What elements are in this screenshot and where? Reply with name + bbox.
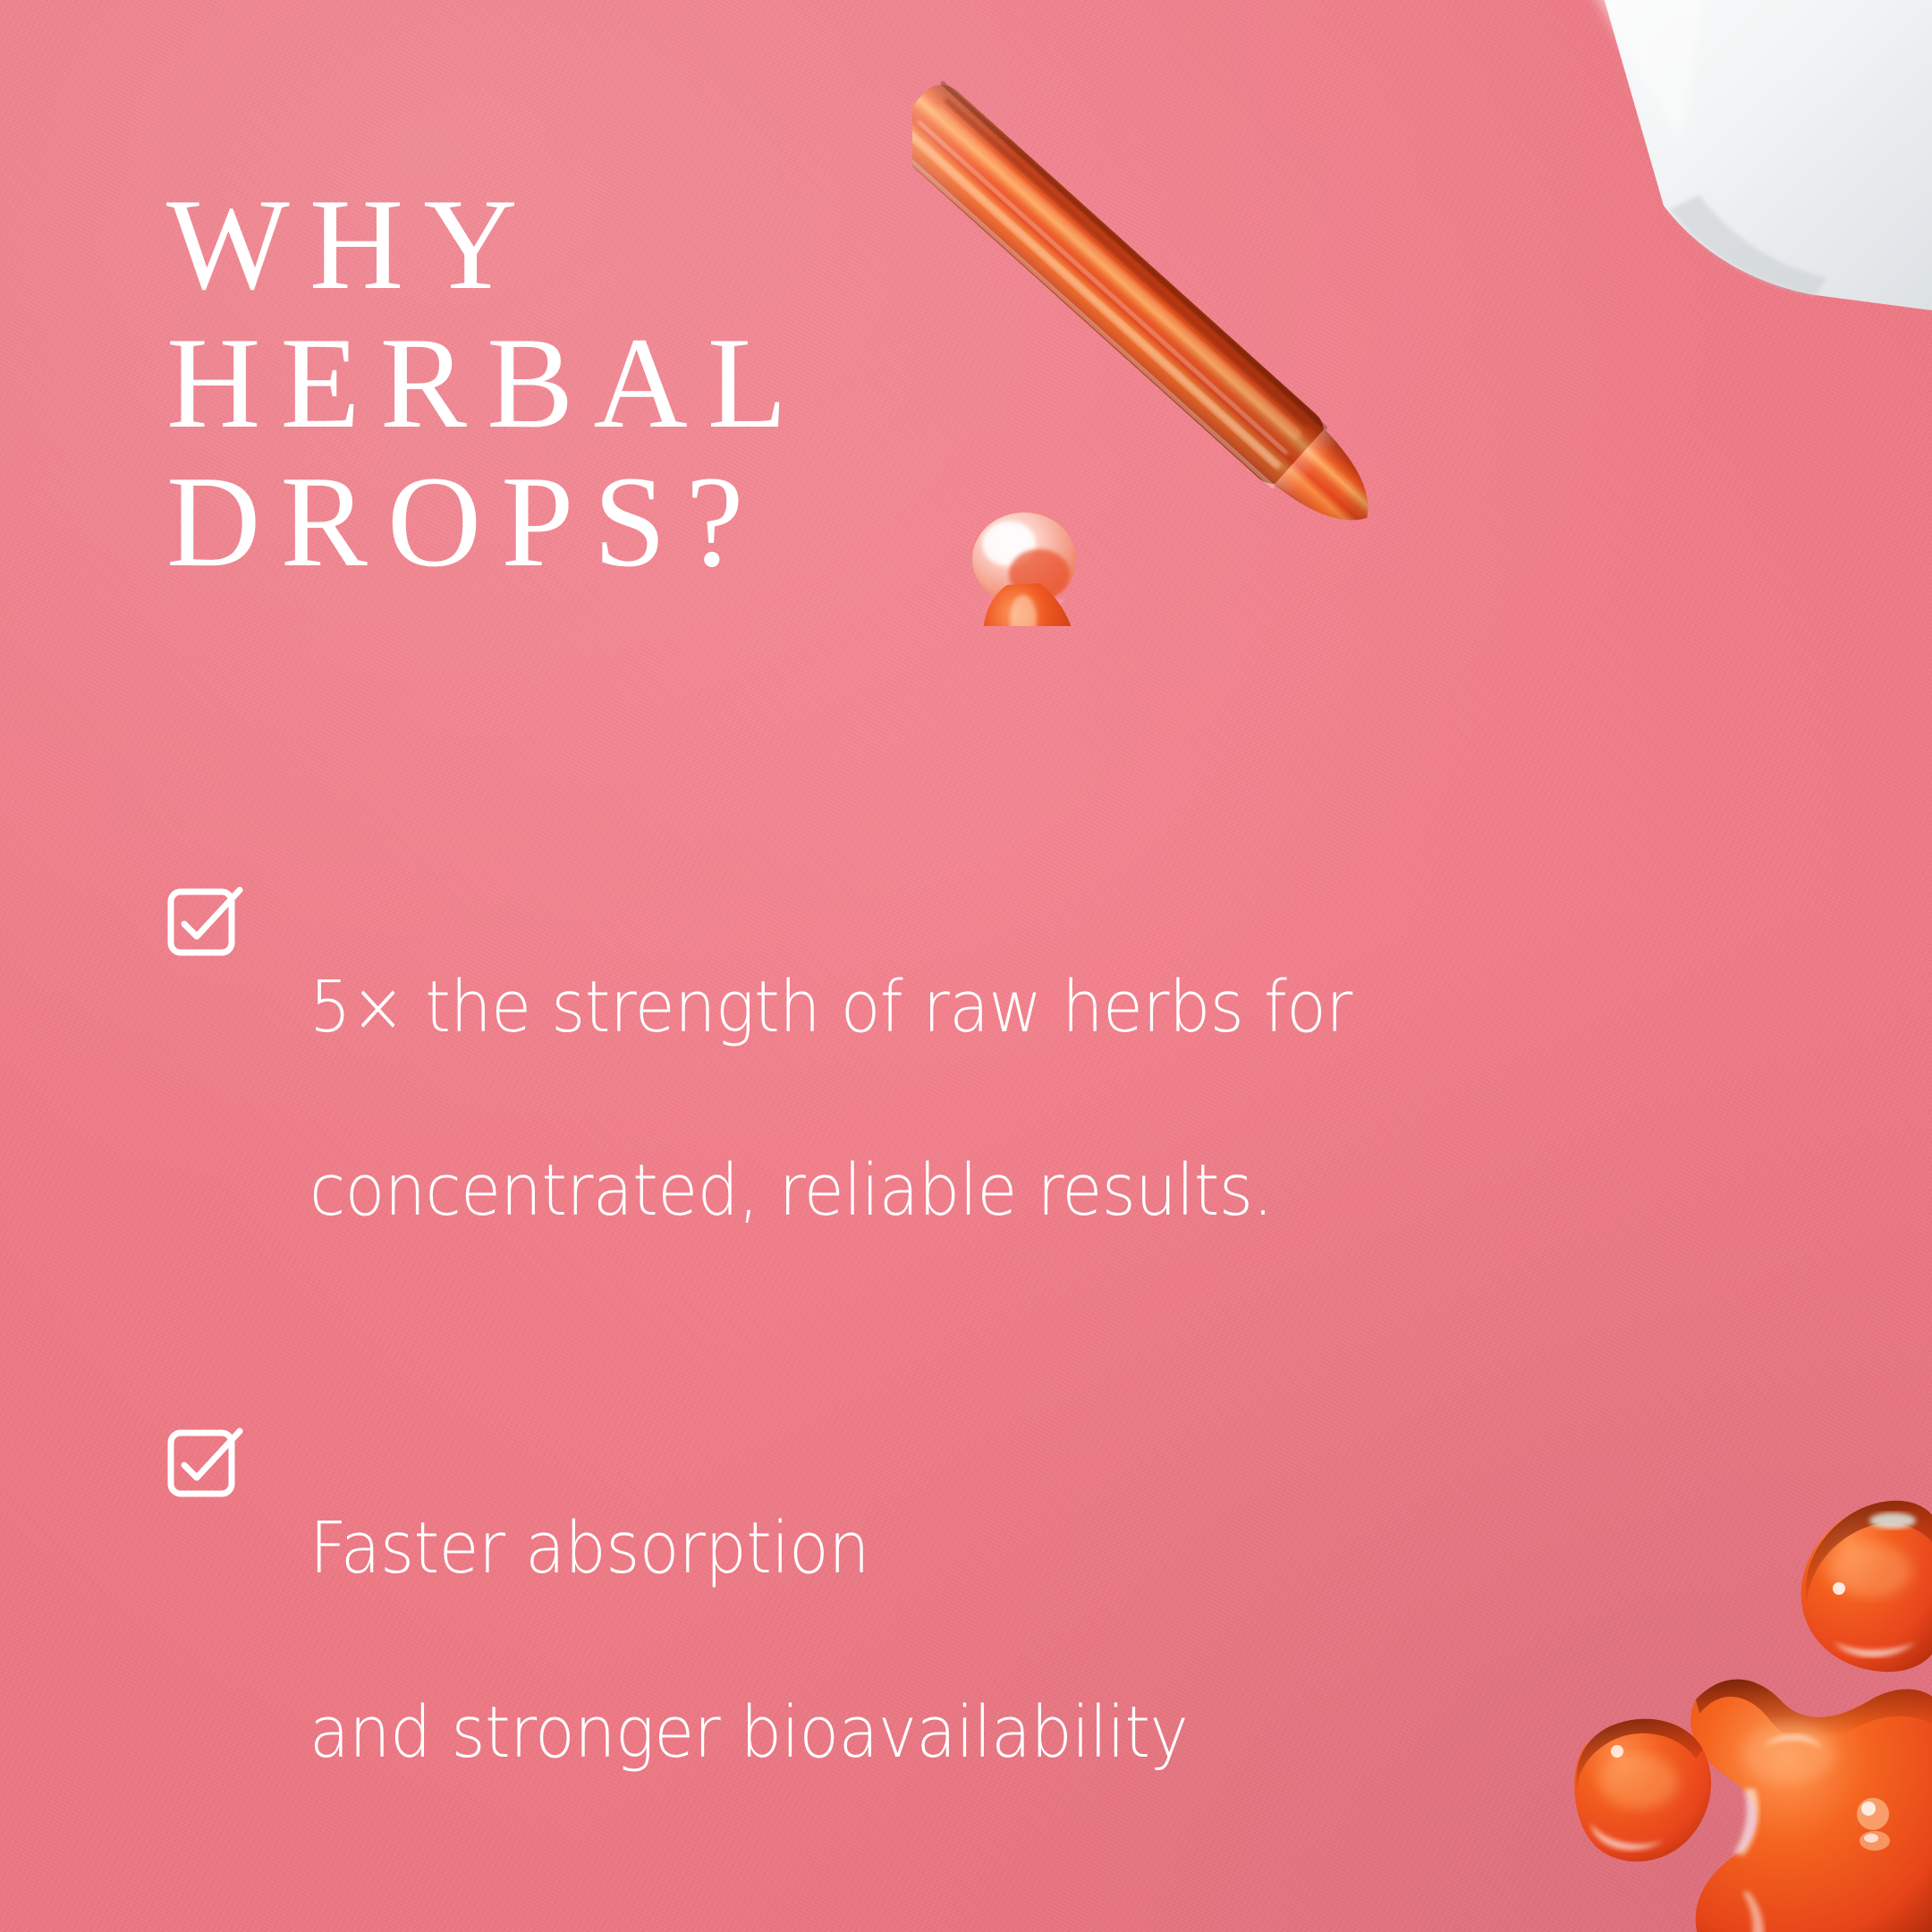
benefit-text: 5× the strength of raw herbs for concent… (309, 869, 1352, 1328)
list-item: Faster absorption and stronger bioavaila… (166, 1411, 1767, 1869)
benefit-2-line-2: and stronger bioavailability (309, 1687, 1188, 1779)
benefit-list: 5× the strength of raw herbs for concent… (166, 869, 1767, 1932)
checkbox-checked-icon (166, 887, 236, 957)
page-title: WHY HERBAL DROPS? (166, 175, 1150, 590)
benefit-2-line-1: Faster absorption (309, 1503, 1188, 1595)
benefit-1-line-1: 5× the strength of raw herbs for (309, 962, 1352, 1054)
benefit-text: Faster absorption and stronger bioavaila… (309, 1411, 1188, 1869)
checkbox-checked-icon (166, 1428, 236, 1498)
poster-canvas: WHY HERBAL DROPS? 5× the strength of raw… (0, 0, 1932, 1932)
headline-line-2: HERBAL (166, 314, 1150, 453)
list-item: 5× the strength of raw herbs for concent… (166, 869, 1767, 1328)
benefit-1-line-2: concentrated, reliable results. (309, 1145, 1352, 1237)
headline-line-1: WHY (166, 175, 1150, 314)
headline-line-3: DROPS? (166, 453, 1150, 591)
